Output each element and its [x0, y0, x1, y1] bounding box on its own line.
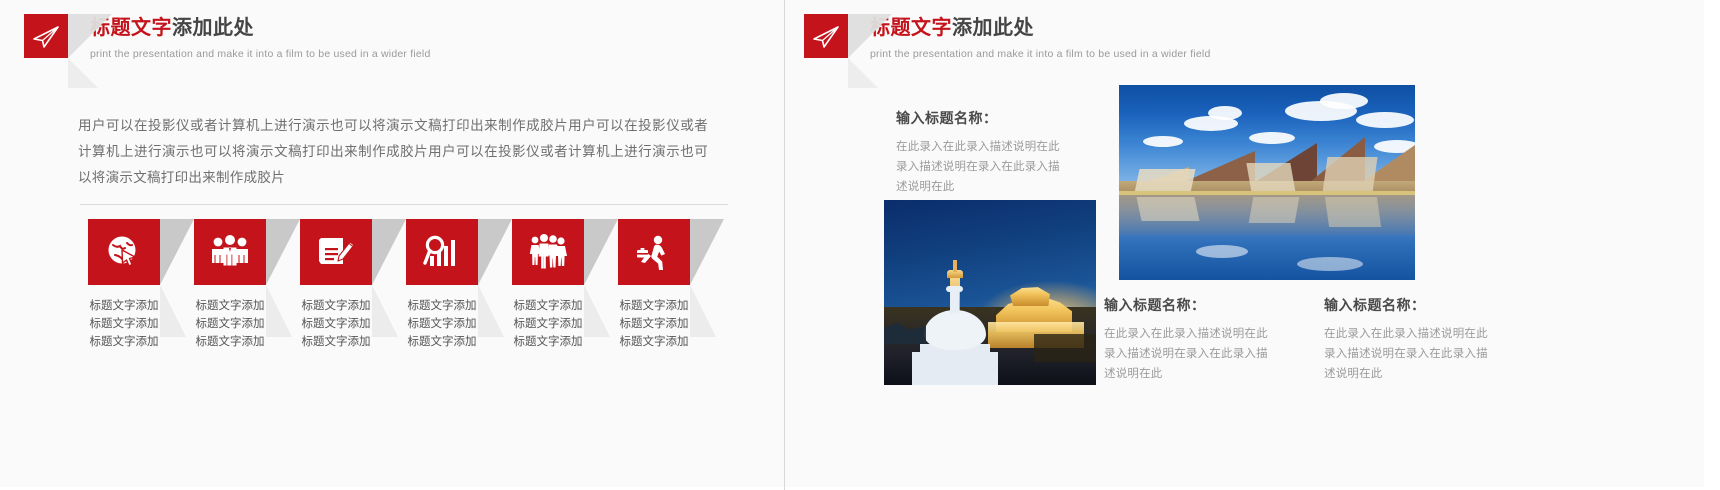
icon-card-4[interactable]: 标题文字添加 标题文字添加 标题文字添加 — [406, 219, 478, 351]
icon-card-caption: 标题文字添加 标题文字添加 标题文字添加 — [194, 297, 266, 351]
text-block-1: 输入标题名称： 在此录入在此录入描述说明在此录入描述说明在录入在此录入描述说明在… — [896, 108, 1068, 197]
cloud-shape — [1143, 136, 1183, 147]
icon-shadow-soft — [584, 285, 610, 337]
page-subtitle: print the presentation and make it into … — [870, 47, 1210, 62]
block-description: 在此录入在此录入描述说明在此录入描述说明在录入在此录入描述说明在此 — [896, 137, 1068, 197]
caption-line-3: 标题文字添加 — [618, 333, 690, 351]
icon-card-3[interactable]: 标题文字添加 标题文字添加 标题文字添加 — [300, 219, 372, 351]
logo-shadow — [68, 14, 112, 58]
family-group-icon — [512, 219, 584, 285]
caption-line-2: 标题文字添加 — [194, 315, 266, 333]
icon-shadow-soft — [266, 285, 292, 337]
stupa-spire — [950, 292, 959, 314]
caption-line-1: 标题文字添加 — [406, 297, 478, 315]
icon-card-caption: 标题文字添加 标题文字添加 标题文字添加 — [88, 297, 160, 351]
icon-card-caption: 标题文字添加 标题文字添加 标题文字添加 — [618, 297, 690, 351]
caption-line-2: 标题文字添加 — [300, 315, 372, 333]
icon-shadow — [584, 219, 618, 285]
team-people-icon — [194, 219, 266, 285]
caption-line-3: 标题文字添加 — [406, 333, 478, 351]
slide-left[interactable]: 标题文字添加此处 print the presentation and make… — [0, 0, 784, 490]
icon-card-caption: 标题文字添加 标题文字添加 标题文字添加 — [300, 297, 372, 351]
document-pencil-icon — [300, 219, 372, 285]
page-title: 标题文字添加此处 — [90, 15, 430, 41]
snow-patch — [1246, 163, 1295, 193]
snow-patch — [1322, 157, 1377, 193]
text-block-3: 输入标题名称： 在此录入在此录入描述说明在此录入描述说明在录入在此录入描述说明在… — [1324, 295, 1496, 384]
mountain-lake-reflection-photo — [1119, 85, 1415, 280]
divider-rule — [80, 204, 728, 205]
icon-shadow-soft — [690, 285, 716, 337]
caption-line-1: 标题文字添加 — [300, 297, 372, 315]
block-description: 在此录入在此录入描述说明在此录入描述说明在录入在此录入描述说明在此 — [1104, 324, 1276, 384]
caption-line-2: 标题文字添加 — [406, 315, 478, 333]
magnifier-bar-chart-icon — [406, 219, 478, 285]
page-title: 标题文字添加此处 — [870, 15, 1210, 41]
caption-line-1: 标题文字添加 — [512, 297, 584, 315]
icon-shadow-soft — [160, 285, 186, 337]
text-block-2: 输入标题名称： 在此录入在此录入描述说明在此录入描述说明在录入在此录入描述说明在… — [1104, 295, 1276, 384]
cloud-shape — [1249, 132, 1295, 144]
paper-plane-icon — [24, 14, 68, 58]
logo-shadow-soft — [848, 58, 878, 88]
block-title: 输入标题名称： — [896, 108, 1068, 128]
stupa-base — [912, 352, 998, 385]
icon-shadow — [266, 219, 300, 285]
caption-line-1: 标题文字添加 — [194, 297, 266, 315]
caption-line-2: 标题文字添加 — [618, 315, 690, 333]
slide-divider — [784, 0, 785, 490]
caption-line-3: 标题文字添加 — [512, 333, 584, 351]
icon-card-1[interactable]: 标题文字添加 标题文字添加 标题文字添加 — [88, 219, 160, 351]
icon-shadow — [478, 219, 512, 285]
page-title-rest: 添加此处 — [172, 17, 254, 39]
stupa-spire-cap — [946, 286, 963, 292]
reflection-patch — [1249, 197, 1300, 223]
body-paragraph: 用户可以在投影仪或者计算机上进行演示也可以将演示文稿打印出来制作成胶片用户可以在… — [78, 113, 708, 191]
cloud-reflection — [1196, 245, 1248, 258]
reflection-patch — [1136, 197, 1199, 221]
icon-card-5[interactable]: 标题文字添加 标题文字添加 标题文字添加 — [512, 219, 584, 351]
logo-shadow-soft — [68, 58, 98, 88]
icon-card-caption: 标题文字添加 标题文字添加 标题文字添加 — [406, 297, 478, 351]
page-subtitle: print the presentation and make it into … — [90, 47, 430, 62]
cloud-reflection — [1297, 257, 1363, 271]
caption-line-3: 标题文字添加 — [88, 333, 160, 351]
reflection-patch — [1325, 197, 1381, 227]
icon-shadow — [372, 219, 406, 285]
caption-line-3: 标题文字添加 — [300, 333, 372, 351]
icon-shadow-soft — [372, 285, 398, 337]
paper-plane-icon — [804, 14, 848, 58]
snow-patch — [1134, 169, 1195, 193]
block-title: 输入标题名称： — [1104, 295, 1276, 315]
potala-palace-dusk-photo — [884, 200, 1096, 385]
icon-card-row: 标题文字添加 标题文字添加 标题文字添加 — [88, 219, 690, 351]
slide-deck: 标题文字添加此处 print the presentation and make… — [0, 0, 1720, 490]
cloud-shape — [1320, 93, 1368, 109]
icon-shadow — [690, 219, 724, 285]
slide-right-header: 标题文字添加此处 print the presentation and make… — [804, 14, 1210, 62]
running-person-briefcase-icon — [618, 219, 690, 285]
caption-line-1: 标题文字添加 — [618, 297, 690, 315]
logo-shadow — [848, 14, 892, 58]
caption-line-1: 标题文字添加 — [88, 297, 160, 315]
distant-hills — [1034, 334, 1096, 362]
block-description: 在此录入在此录入描述说明在此录入描述说明在录入在此录入描述说明在此 — [1324, 324, 1496, 384]
slide-left-header: 标题文字添加此处 print the presentation and make… — [24, 14, 430, 62]
page-title-rest: 添加此处 — [952, 17, 1034, 39]
icon-card-2[interactable]: 标题文字添加 标题文字添加 标题文字添加 — [194, 219, 266, 351]
block-title: 输入标题名称： — [1324, 295, 1496, 315]
icon-card-6[interactable]: 标题文字添加 标题文字添加 标题文字添加 — [618, 219, 690, 351]
caption-line-2: 标题文字添加 — [512, 315, 584, 333]
icon-shadow-soft — [478, 285, 504, 337]
caption-line-3: 标题文字添加 — [194, 333, 266, 351]
tower-spire — [953, 260, 957, 272]
caption-line-2: 标题文字添加 — [88, 315, 160, 333]
icon-shadow — [160, 219, 194, 285]
slide-right[interactable]: 标题文字添加此处 print the presentation and make… — [784, 0, 1704, 490]
globe-cursor-icon — [88, 219, 160, 285]
icon-card-caption: 标题文字添加 标题文字添加 标题文字添加 — [512, 297, 584, 351]
